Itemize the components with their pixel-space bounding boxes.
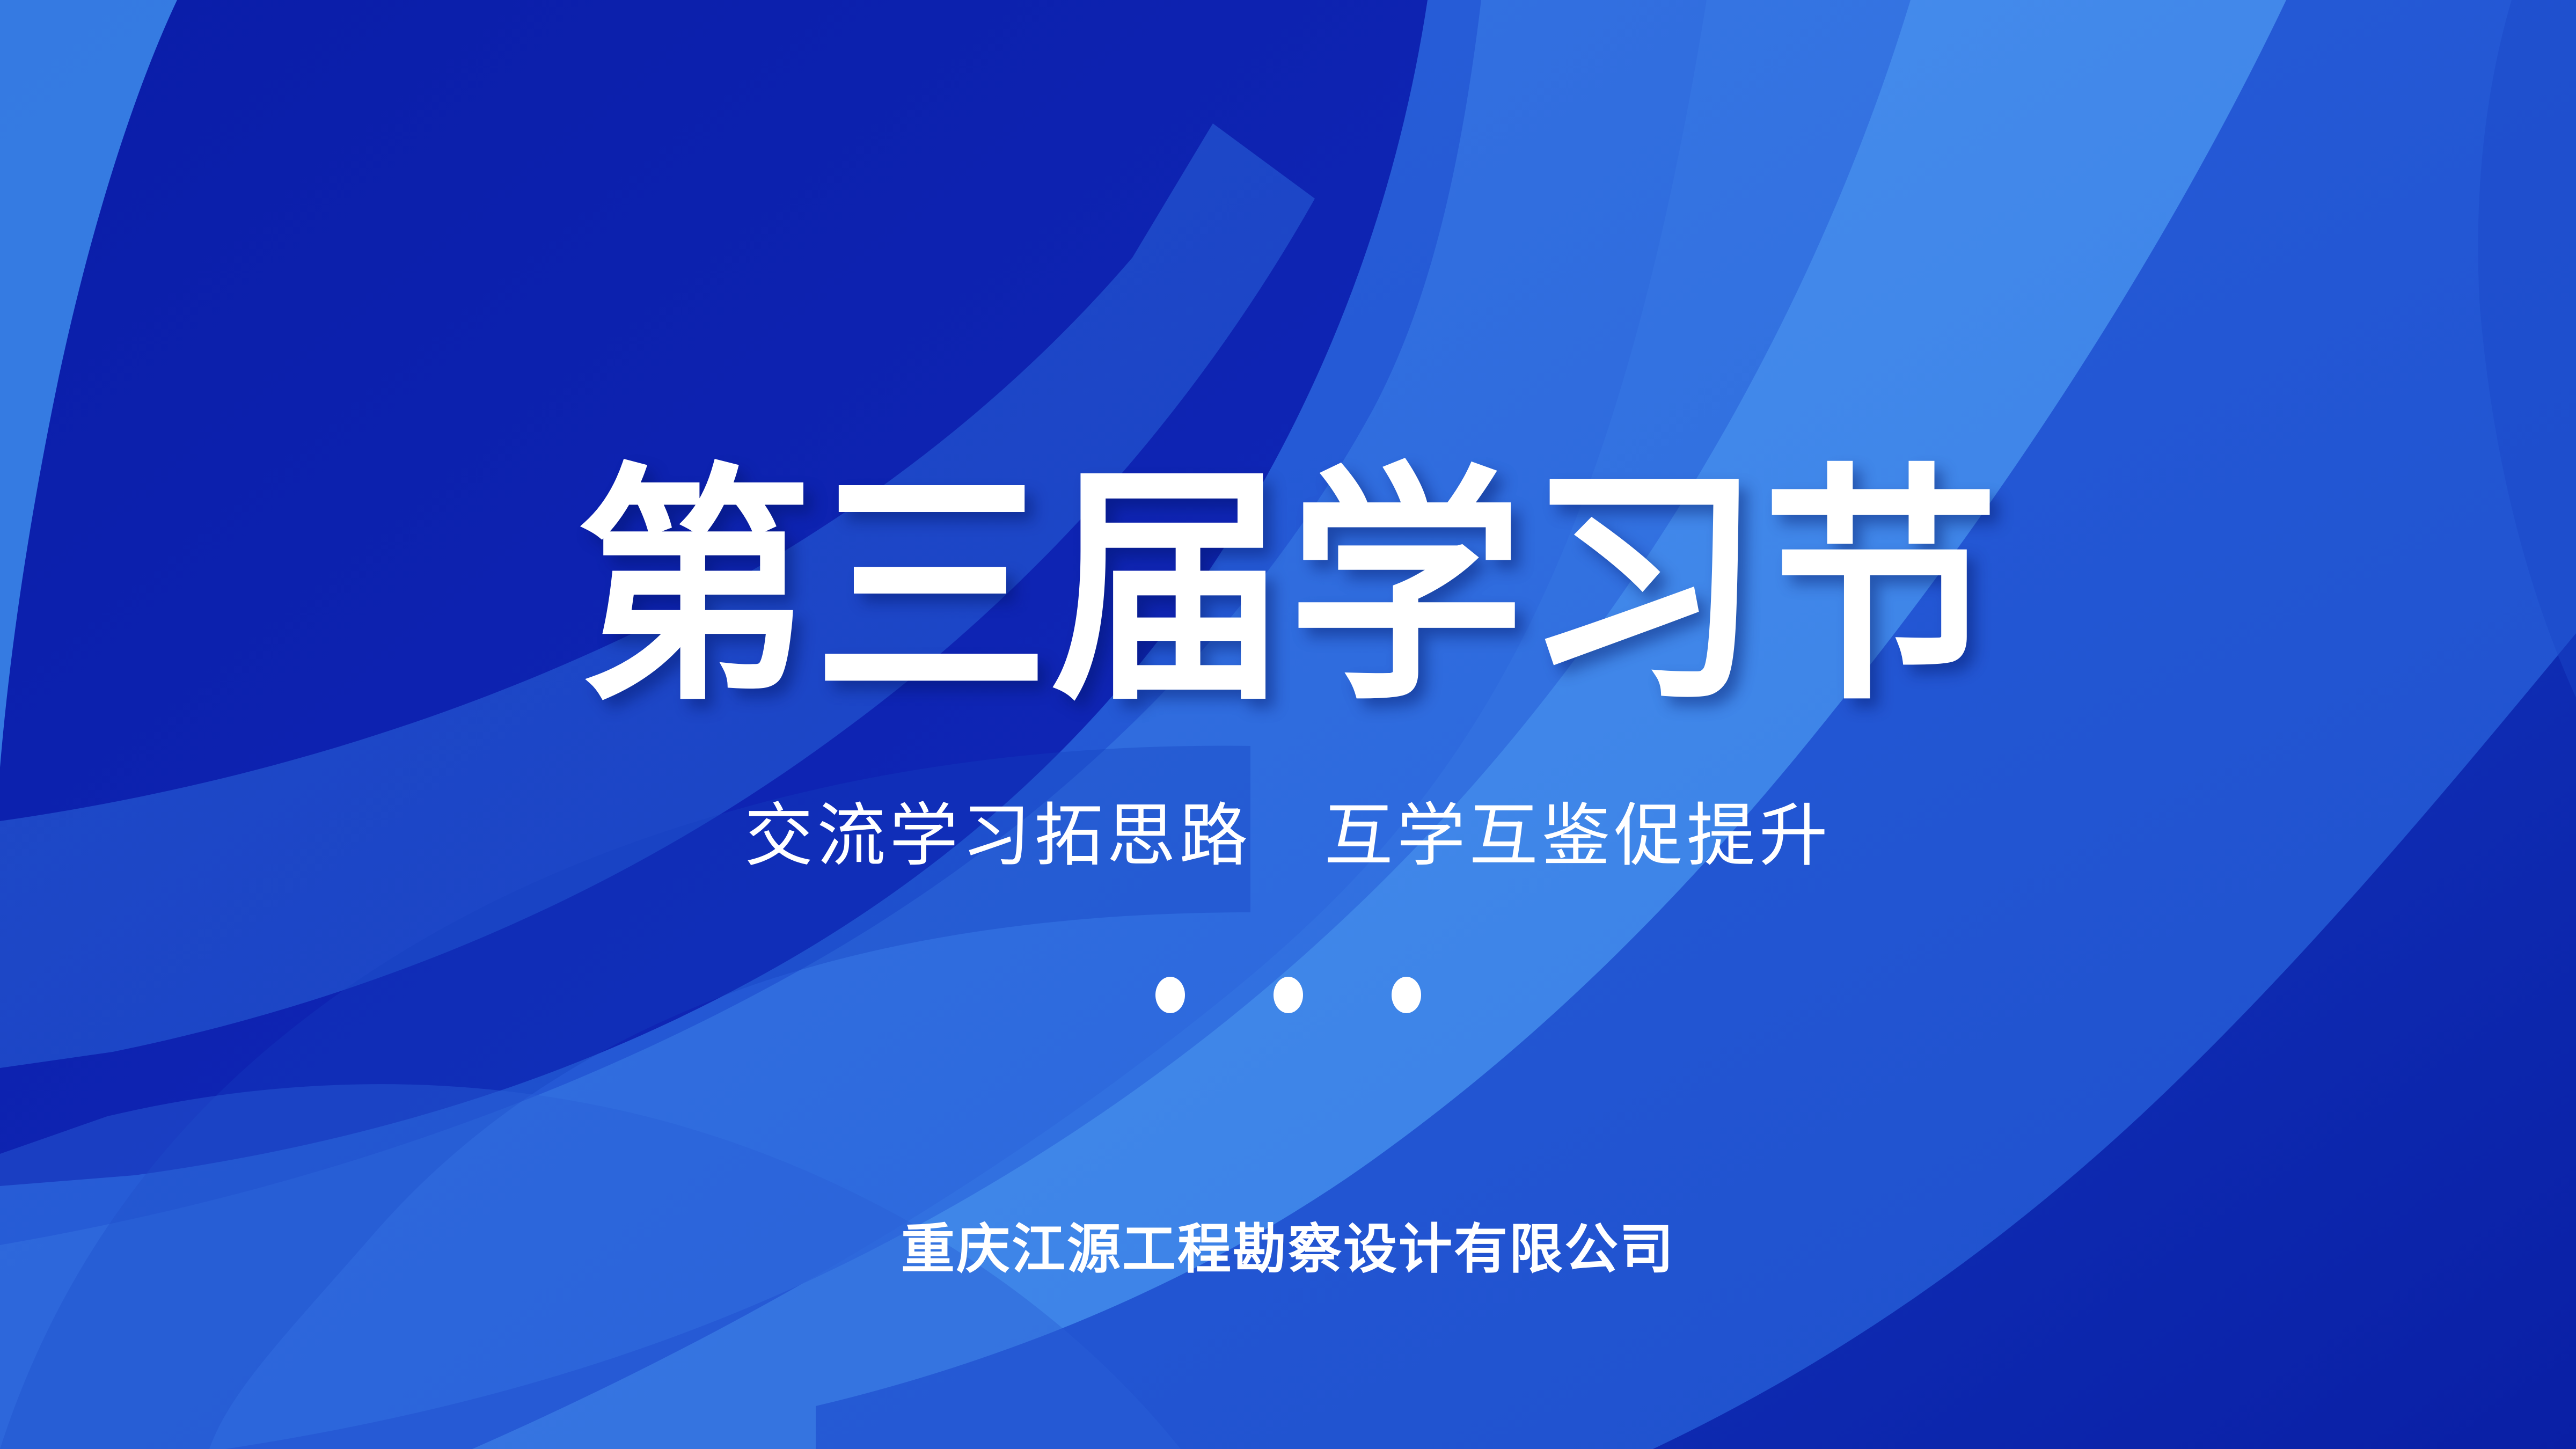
subtitle-block: 交流学习拓思路 互学互鉴促提升 xyxy=(0,793,2576,879)
dot-icon-1 xyxy=(1155,977,1185,1013)
company-name: 重庆江源工程勘察设计有限公司 xyxy=(901,1217,1675,1282)
decorative-dots-row xyxy=(0,977,2576,1013)
poster-content: 第三届学习节 交流学习拓思路 互学互鉴促提升 重庆江源工程勘察设计有限公司 xyxy=(0,0,2576,1449)
company-block: 重庆江源工程勘察设计有限公司 xyxy=(0,1217,2576,1282)
subtitle-text: 交流学习拓思路 互学互鉴促提升 xyxy=(744,793,1832,879)
dot-icon-2 xyxy=(1274,977,1303,1013)
poster-canvas: 第三届学习节 交流学习拓思路 互学互鉴促提升 重庆江源工程勘察设计有限公司 xyxy=(0,0,2576,1449)
title-block: 第三届学习节 xyxy=(0,459,2576,705)
dot-icon-3 xyxy=(1392,977,1421,1013)
page-title: 第三届学习节 xyxy=(576,459,2000,719)
